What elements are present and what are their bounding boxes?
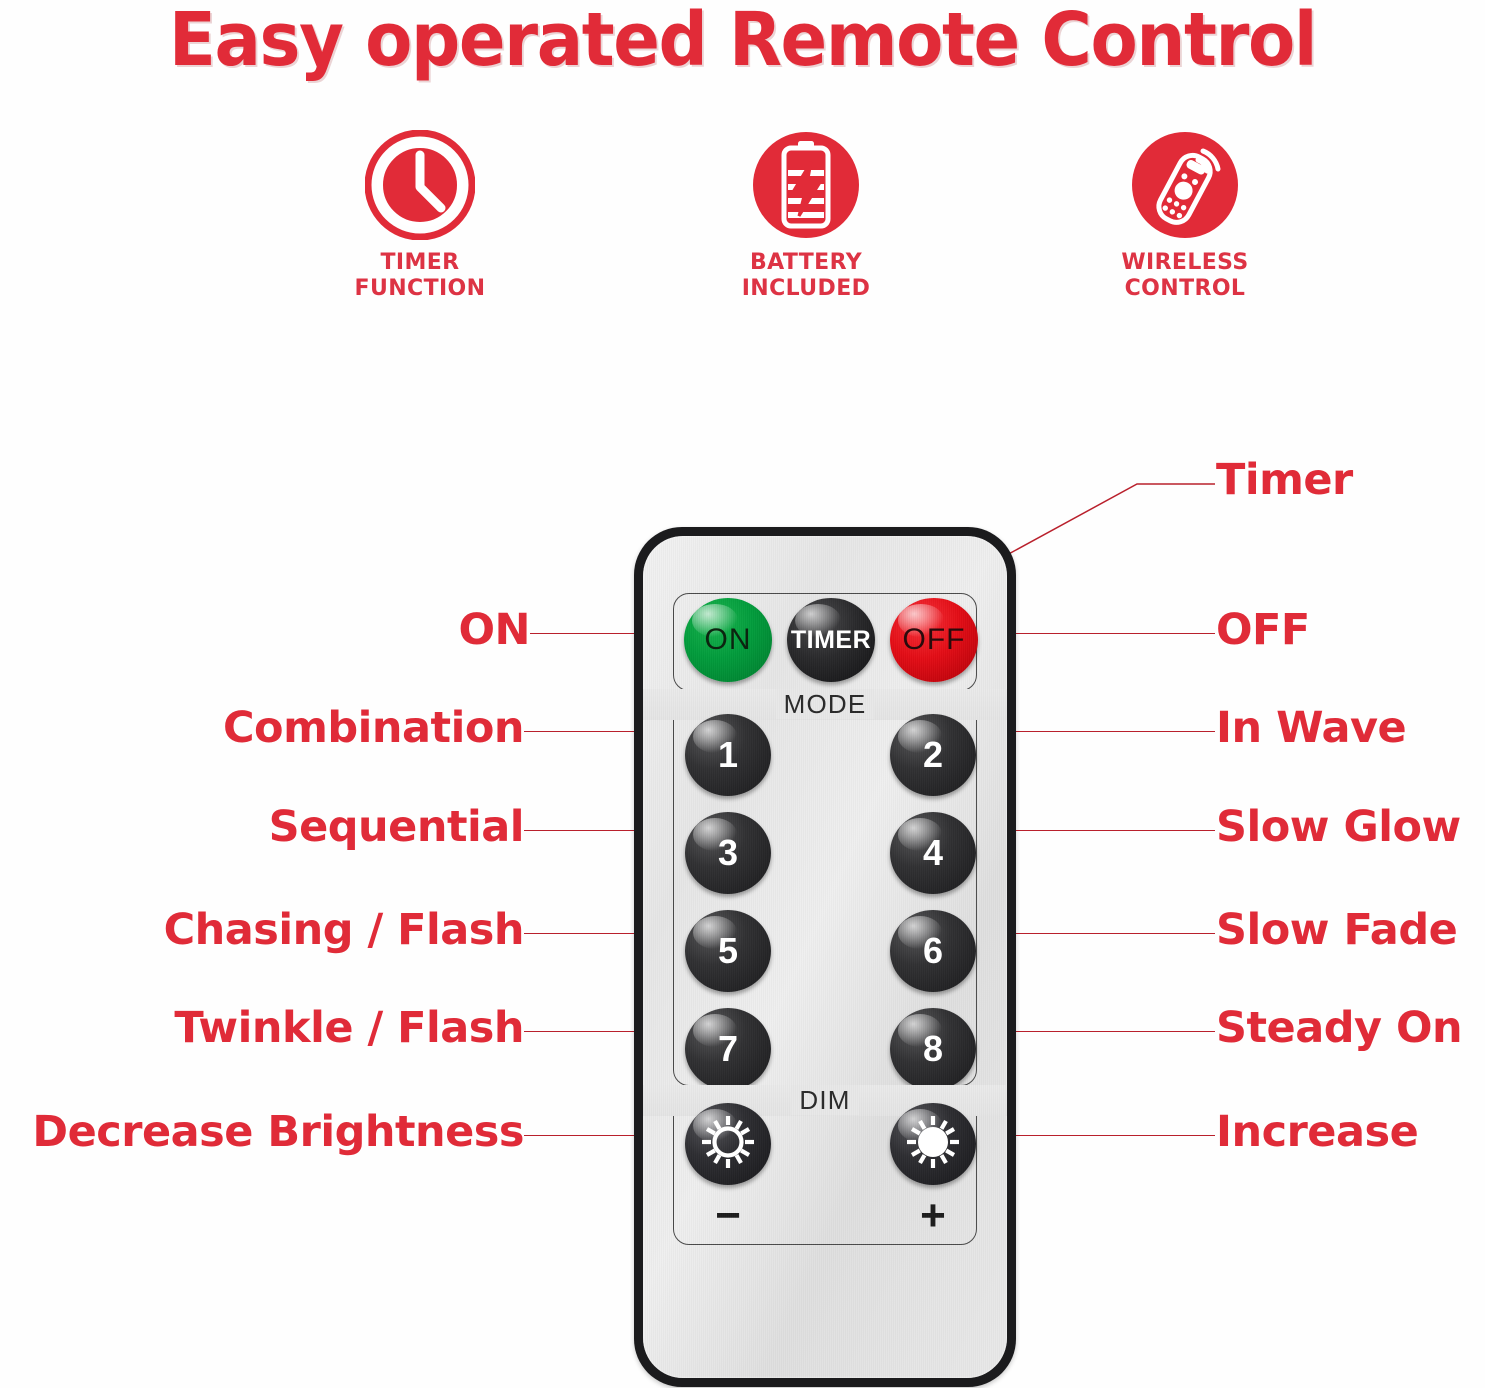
feature-wireless-label-line2: CONTROL: [1035, 276, 1335, 302]
feature-badge-row: TIMER FUNCTION BATTERY INCLUDED: [0, 130, 1485, 320]
feature-wireless-label: WIRELESS CONTROL: [1035, 250, 1335, 302]
mode-button-1-label: 1: [718, 734, 738, 776]
mode-button-1[interactable]: 1: [685, 714, 771, 796]
sun-filled-icon: [905, 1114, 961, 1175]
on-button-label: ON: [705, 623, 752, 657]
feature-wireless-label-line1: WIRELESS: [1035, 250, 1335, 276]
feature-timer-label-line1: TIMER: [270, 250, 570, 276]
feature-timer: TIMER FUNCTION: [270, 130, 570, 302]
mode-panel-title-text: MODE: [776, 689, 875, 719]
timer-button-label: TIMER: [791, 626, 871, 655]
callout-steady-on: Steady On: [1216, 1004, 1482, 1052]
mode-panel-title: MODE: [643, 689, 1007, 720]
timer-button[interactable]: TIMER: [787, 598, 875, 682]
feature-battery-label-line2: INCLUDED: [656, 276, 956, 302]
mode-button-2[interactable]: 2: [890, 714, 976, 796]
dim-decrease-button[interactable]: [685, 1103, 771, 1185]
callout-slow-fade: Slow Fade: [1216, 906, 1482, 954]
mode-button-3[interactable]: 3: [685, 812, 771, 894]
callout-slow-glow: Slow Glow: [1216, 803, 1482, 851]
callout-twinkle-flash: Twinkle / Flash: [70, 1004, 524, 1052]
callout-timer: Timer: [1216, 456, 1476, 504]
callout-off: OFF: [1216, 606, 1476, 654]
mode-button-2-label: 2: [923, 734, 943, 776]
on-button[interactable]: ON: [684, 598, 772, 682]
callout-increase: Increase: [1216, 1108, 1482, 1156]
dim-decrease-sign: −: [685, 1196, 771, 1236]
callout-chasing-flash: Chasing / Flash: [70, 906, 524, 954]
dim-panel-title-text: DIM: [791, 1085, 858, 1115]
remote-faceplate: ON TIMER OFF MODE 1 2 3 4: [643, 536, 1007, 1378]
mode-button-8-label: 8: [923, 1028, 943, 1070]
battery-icon: [751, 130, 861, 240]
callout-in-wave: In Wave: [1216, 704, 1482, 752]
mode-button-4[interactable]: 4: [890, 812, 976, 894]
feature-wireless: WIRELESS CONTROL: [1035, 130, 1335, 302]
feature-battery-label: BATTERY INCLUDED: [656, 250, 956, 302]
mode-button-6[interactable]: 6: [890, 910, 976, 992]
mode-button-4-label: 4: [923, 832, 943, 874]
sun-hollow-icon: [700, 1114, 756, 1175]
callout-decrease-brightness: Decrease Brightness: [4, 1108, 524, 1156]
callout-combination: Combination: [130, 704, 524, 752]
clock-icon: [365, 130, 475, 240]
callout-on: ON: [180, 606, 530, 654]
off-button-label: OFF: [903, 623, 966, 657]
remote-control-device: ON TIMER OFF MODE 1 2 3 4: [634, 527, 1016, 1387]
feature-timer-label: TIMER FUNCTION: [270, 250, 570, 302]
mode-button-5[interactable]: 5: [685, 910, 771, 992]
feature-battery: BATTERY INCLUDED: [656, 130, 956, 302]
page-title: Easy operated Remote Control: [52, 0, 1433, 82]
mode-button-3-label: 3: [718, 832, 738, 874]
feature-timer-label-line2: FUNCTION: [270, 276, 570, 302]
mode-button-5-label: 5: [718, 930, 738, 972]
dim-increase-sign: +: [890, 1196, 976, 1236]
mode-button-6-label: 6: [923, 930, 943, 972]
callout-sequential: Sequential: [130, 803, 524, 851]
dim-increase-button[interactable]: [890, 1103, 976, 1185]
mode-button-7-label: 7: [718, 1028, 738, 1070]
remote-signal-icon: [1130, 130, 1240, 240]
mode-button-8[interactable]: 8: [890, 1008, 976, 1090]
mode-button-7[interactable]: 7: [685, 1008, 771, 1090]
feature-battery-label-line1: BATTERY: [656, 250, 956, 276]
off-button[interactable]: OFF: [890, 598, 978, 682]
